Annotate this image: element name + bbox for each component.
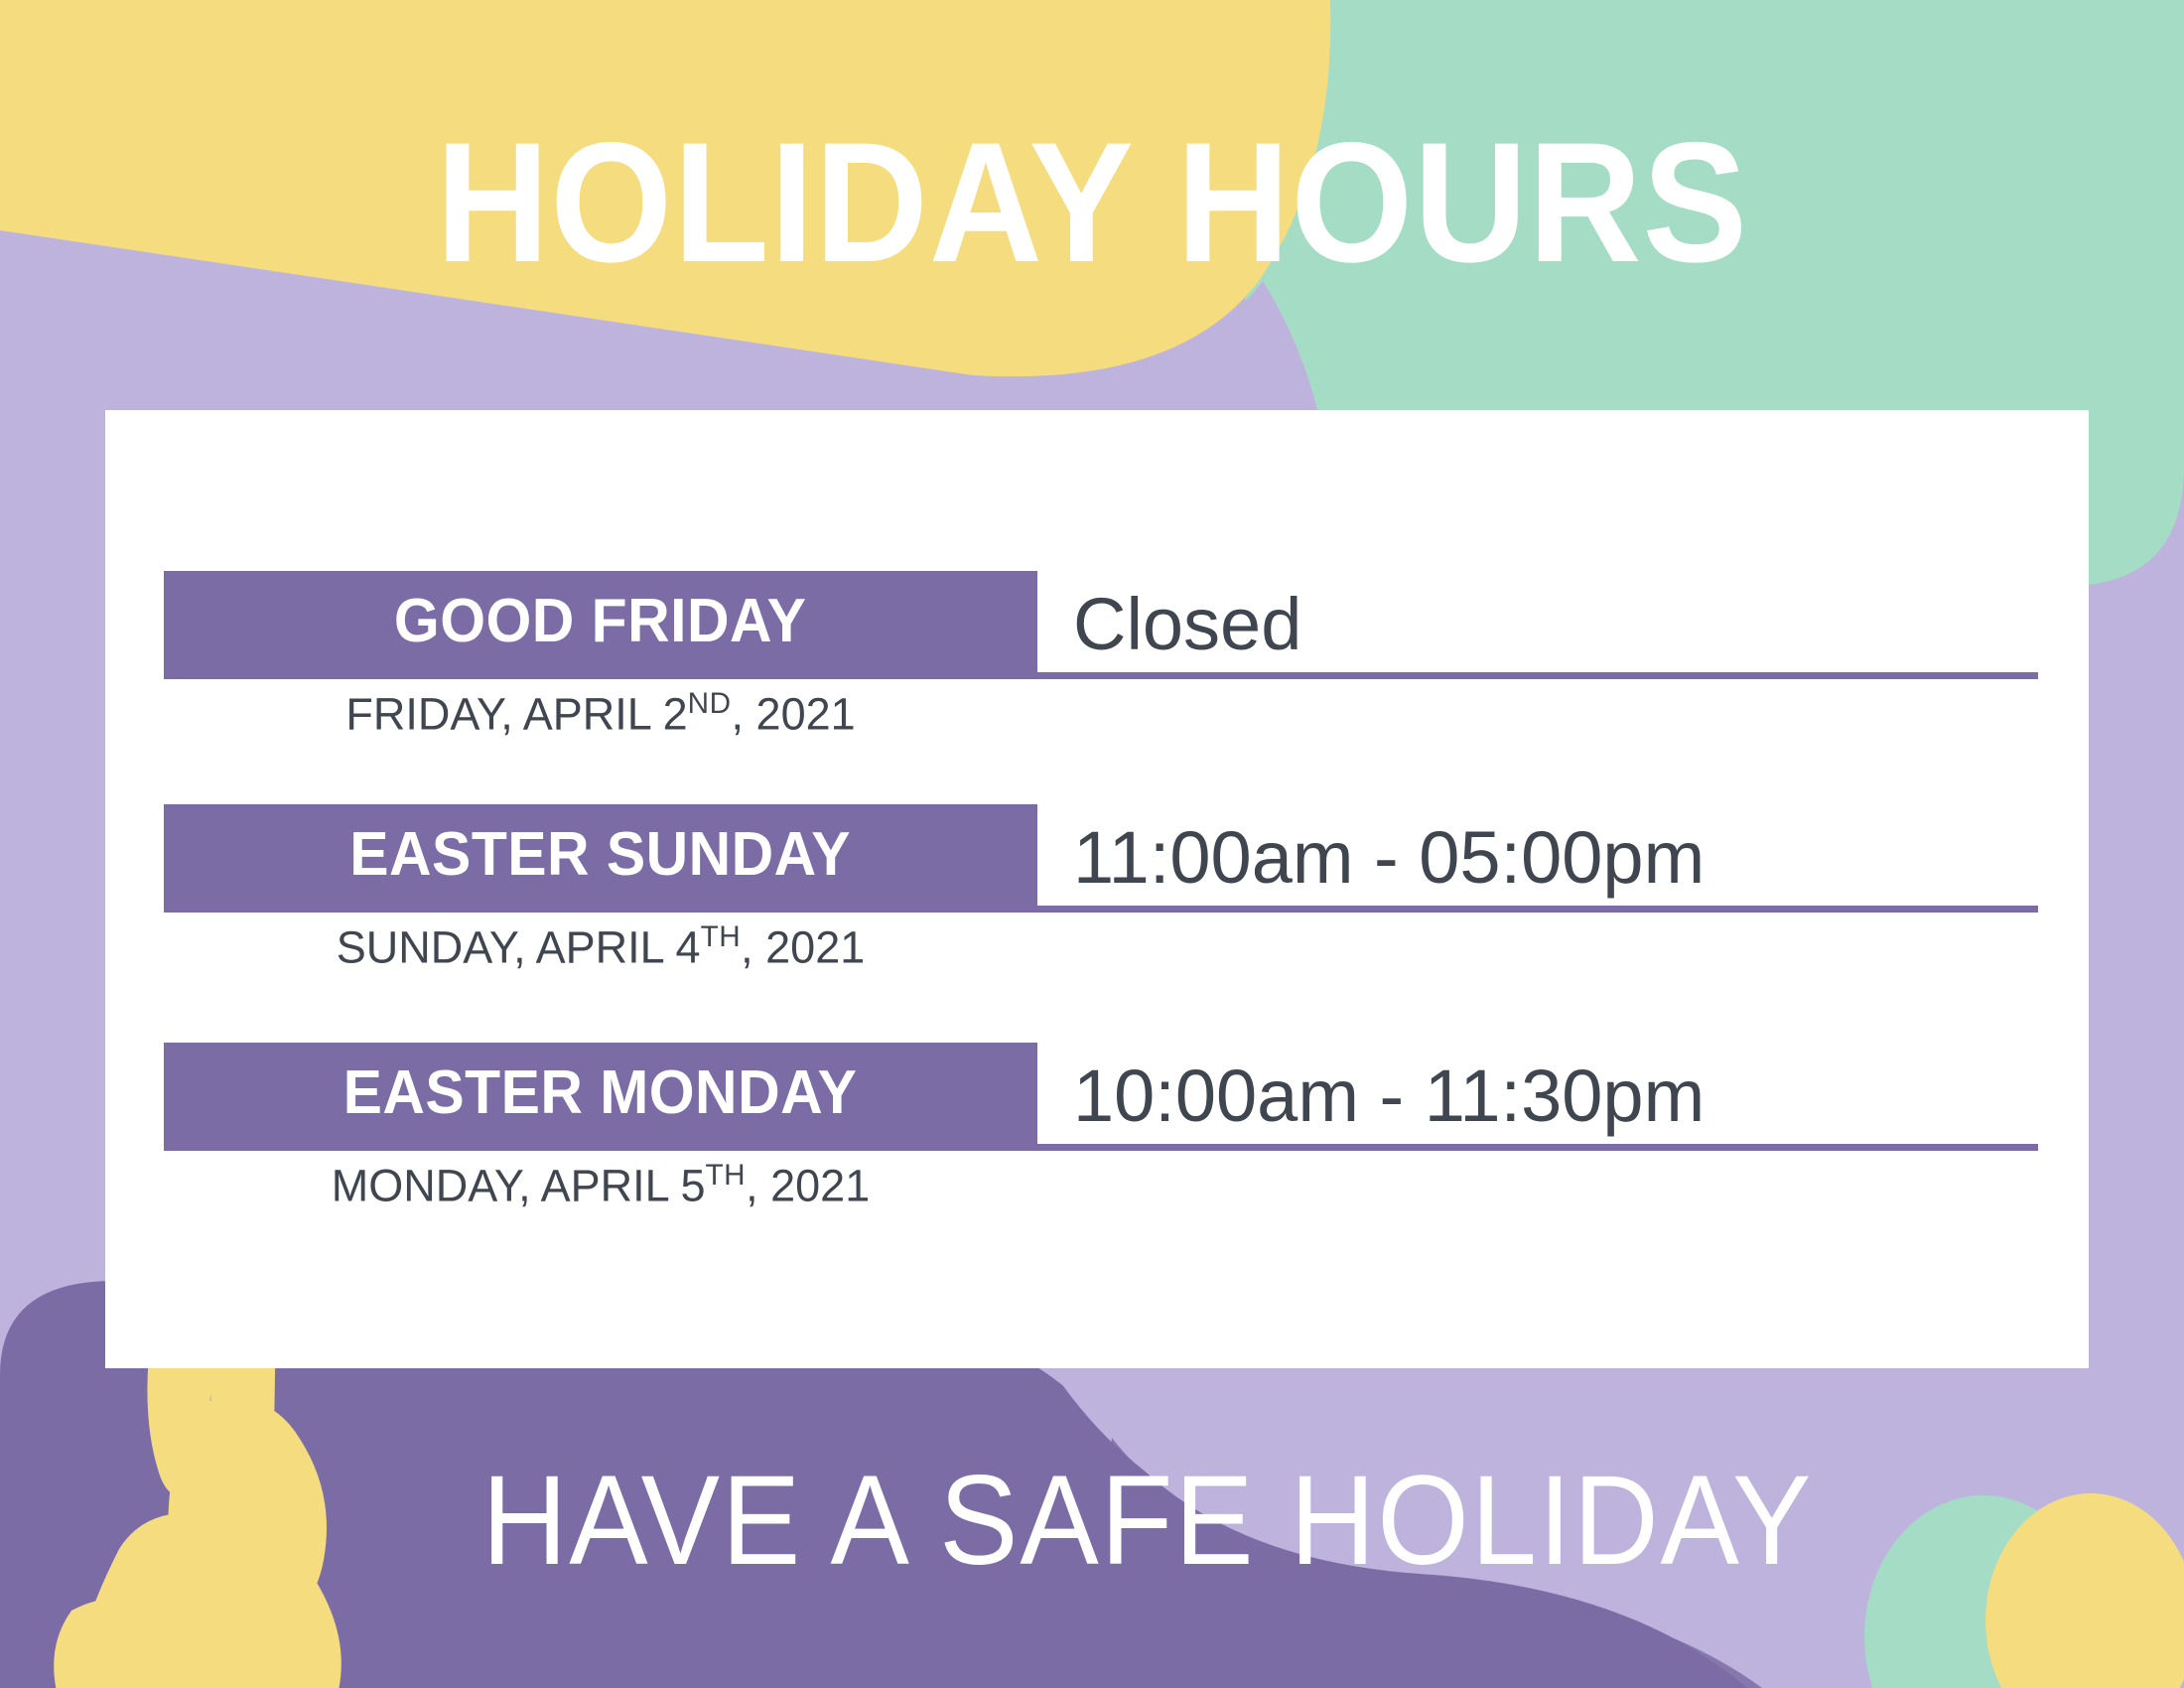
hours-card: GOOD FRIDAY Closed FRIDAY, APRIL 2ND, 20… bbox=[105, 410, 2089, 1368]
day-name-label: EASTER MONDAY bbox=[343, 1062, 858, 1124]
day-name-bar: EASTER MONDAY bbox=[164, 1043, 1037, 1144]
date-year: , 2021 bbox=[732, 688, 856, 739]
page-title: HOLIDAY HOURS bbox=[87, 117, 2097, 288]
holiday-hours-poster: HOLIDAY HOURS GOOD FRIDAY Closed FRIDAY,… bbox=[0, 0, 2184, 1688]
date-label: SUNDAY, APRIL 4TH, 2021 bbox=[164, 921, 1037, 972]
date-ordinal: ND bbox=[688, 687, 732, 720]
row-underline bbox=[164, 1144, 2038, 1151]
date-year: , 2021 bbox=[741, 921, 865, 972]
row-underline bbox=[164, 906, 2038, 913]
day-name-label: EASTER SUNDAY bbox=[350, 824, 852, 886]
date-weekday: FRIDAY, APRIL 2 bbox=[345, 688, 687, 739]
row-underline bbox=[164, 672, 2038, 679]
schedule-row-main: EASTER SUNDAY 11:00am - 05:00pm bbox=[105, 804, 2089, 906]
schedule-row: EASTER MONDAY 10:00am - 11:30pm MONDAY, … bbox=[105, 1043, 2089, 1221]
date-year: , 2021 bbox=[746, 1160, 870, 1210]
footer-message: HAVE A SAFE HOLIDAY bbox=[76, 1458, 2108, 1585]
schedule-row-main: EASTER MONDAY 10:00am - 11:30pm bbox=[105, 1043, 2089, 1144]
date-weekday: MONDAY, APRIL 5 bbox=[332, 1160, 706, 1210]
schedule-row-main: GOOD FRIDAY Closed bbox=[105, 571, 2089, 672]
day-name-bar: EASTER SUNDAY bbox=[164, 804, 1037, 906]
date-ordinal: TH bbox=[701, 920, 742, 953]
schedule-row: EASTER SUNDAY 11:00am - 05:00pm SUNDAY, … bbox=[105, 804, 2089, 983]
day-name-label: GOOD FRIDAY bbox=[394, 591, 806, 652]
day-name-bar: GOOD FRIDAY bbox=[164, 571, 1037, 672]
schedule-list: GOOD FRIDAY Closed FRIDAY, APRIL 2ND, 20… bbox=[105, 410, 2089, 1368]
date-weekday: SUNDAY, APRIL 4 bbox=[337, 921, 701, 972]
date-ordinal: TH bbox=[706, 1159, 747, 1192]
schedule-row: GOOD FRIDAY Closed FRIDAY, APRIL 2ND, 20… bbox=[105, 571, 2089, 750]
date-label: FRIDAY, APRIL 2ND, 2021 bbox=[164, 688, 1037, 739]
hours-value: 11:00am - 05:00pm bbox=[1073, 810, 2066, 906]
date-label: MONDAY, APRIL 5TH, 2021 bbox=[164, 1160, 1037, 1210]
hours-value: Closed bbox=[1073, 577, 2066, 672]
hours-value: 10:00am - 11:30pm bbox=[1073, 1049, 2066, 1144]
